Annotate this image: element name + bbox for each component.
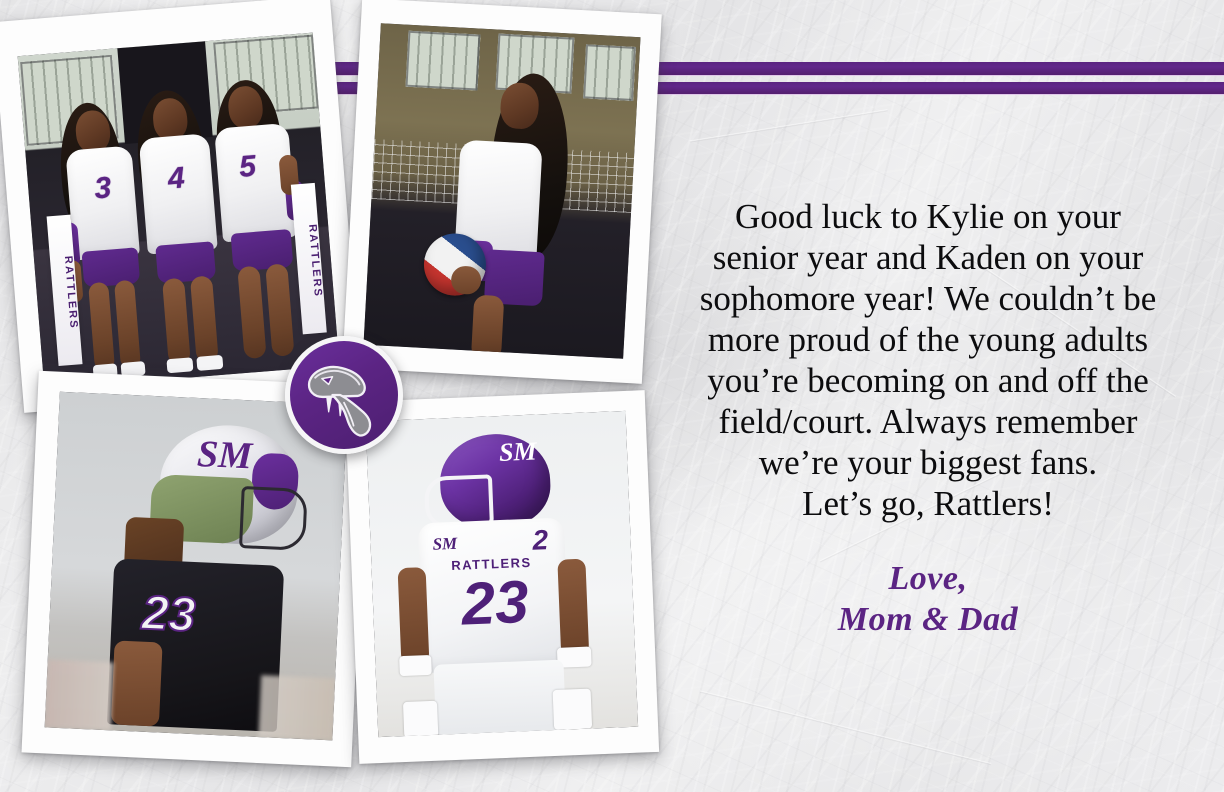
helmet-sm-logo: SM: [498, 437, 537, 468]
wristband: [399, 655, 432, 676]
pants: [433, 660, 566, 737]
gym-window: [406, 31, 481, 91]
crowd-blur: [258, 675, 335, 740]
glove: [553, 689, 593, 730]
tribute-ad-page: 3 4: [0, 0, 1224, 792]
jersey-number: 23: [141, 586, 197, 643]
shorts: [231, 229, 294, 272]
shoe: [166, 357, 193, 373]
message-line: sophomore year! We couldn’t be: [666, 278, 1190, 319]
jersey-number-4: 4: [167, 161, 186, 196]
paper-crease: [700, 690, 992, 765]
signature-block: Love, Mom & Dad: [666, 558, 1190, 640]
shoulder-sm-logo: SM: [432, 534, 457, 555]
photo-volleyball-trio-image: 3 4: [18, 33, 340, 390]
snake-head-icon: [296, 347, 392, 443]
message-line: Let’s go, Rattlers!: [666, 483, 1190, 524]
message-line: field/court. Always remember: [666, 401, 1190, 442]
message-line: you’re becoming on and off the: [666, 360, 1190, 401]
facemask: [239, 486, 308, 551]
gym-window: [583, 44, 636, 101]
tribute-message: Good luck to Kylie on your senior year a…: [666, 196, 1190, 524]
paper-crease: [690, 109, 888, 143]
glove: [403, 701, 438, 737]
photo-volleyball-solo-image: [363, 23, 640, 359]
message-line: more proud of the young adults: [666, 319, 1190, 360]
signature-line: Mom & Dad: [666, 599, 1190, 640]
shoe: [196, 355, 223, 371]
crowd-blur: [45, 659, 114, 730]
rattlers-mascot-badge: [285, 336, 403, 454]
arm: [557, 559, 589, 656]
photo-football-white-image: SM SM 2 RATTLERS 23: [366, 411, 638, 737]
arm: [398, 567, 430, 664]
photo-football-white: SM SM 2 RATTLERS 23: [345, 390, 659, 764]
photo-volleyball-solo: [342, 0, 662, 384]
shorts: [82, 247, 141, 287]
jersey-number: 23: [444, 566, 547, 639]
arm: [111, 640, 163, 726]
jersey-number-5: 5: [238, 150, 257, 185]
message-line: senior year and Kaden on your: [666, 237, 1190, 278]
leg: [471, 295, 504, 359]
photo-football-helmet-image: SM 23: [45, 392, 348, 741]
message-line: Good luck to Kylie on your: [666, 196, 1190, 237]
helmet-sm-logo: SM: [196, 432, 253, 478]
jersey-number-3: 3: [93, 171, 112, 206]
message-line: we’re your biggest fans.: [666, 442, 1190, 483]
shoulder-number: 2: [532, 524, 549, 557]
signature-line: Love,: [666, 558, 1190, 599]
